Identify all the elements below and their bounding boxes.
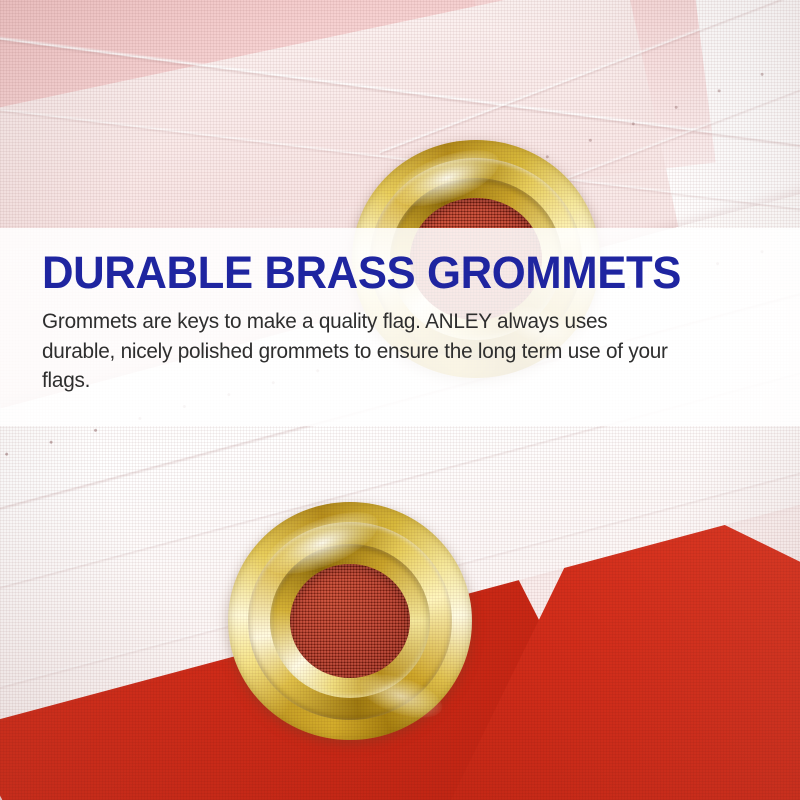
caption-overlay-band: DURABLE BRASS GROMMETS Grommets are keys… (0, 228, 800, 426)
headline-text: DURABLE BRASS GROMMETS (42, 228, 737, 295)
body-copy-text: Grommets are keys to make a quality flag… (42, 295, 679, 396)
product-feature-image: DURABLE BRASS GROMMETS Grommets are keys… (0, 0, 800, 800)
